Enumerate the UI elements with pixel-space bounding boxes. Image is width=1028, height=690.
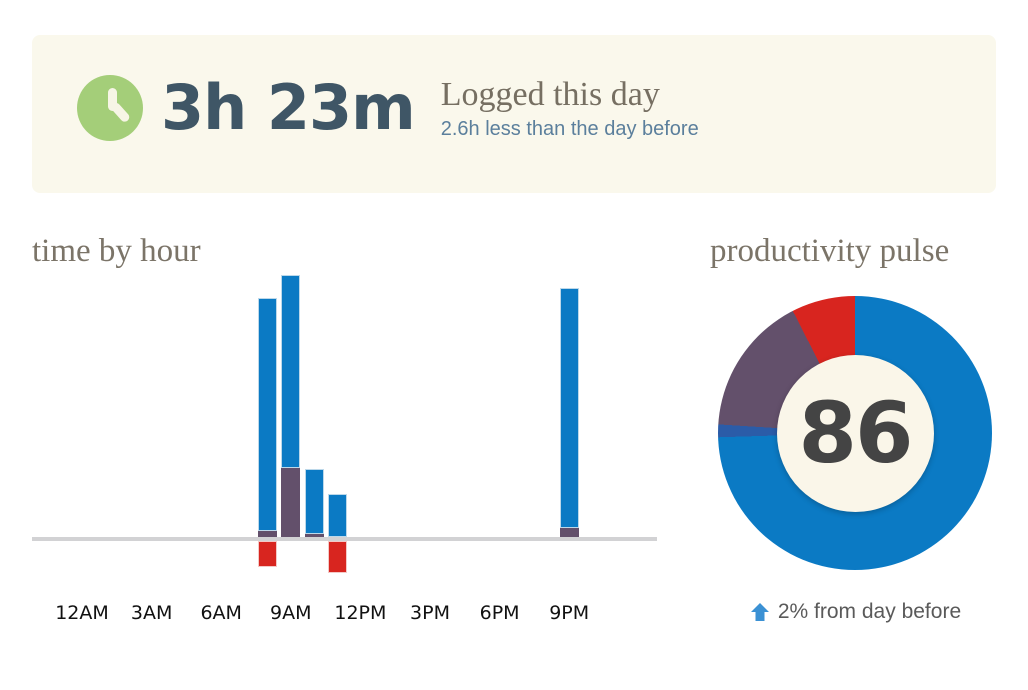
- bar-segment-very-productive: [258, 298, 277, 530]
- pulse-donut-hole: 86: [777, 355, 934, 512]
- productivity-pulse-heading: productivity pulse: [710, 233, 949, 270]
- bar-segment-neutral: [305, 534, 324, 537]
- pulse-delta-text: 2% from day before: [778, 600, 961, 624]
- chart-x-axis-labels: 12AM3AM6AM9AM12PM3PM6PM9PM: [32, 602, 657, 632]
- bar-segment-neutral: [281, 468, 300, 537]
- bar-column: [328, 275, 347, 580]
- x-axis-tick-label: 3PM: [410, 602, 450, 624]
- total-logged-time: 3h 23m: [161, 77, 415, 139]
- summary-subtitle: 2.6h less than the day before: [441, 118, 699, 141]
- x-axis-tick-label: 12AM: [55, 602, 109, 624]
- bar-column: [305, 275, 324, 580]
- bar-column: [258, 275, 277, 580]
- clock-icon: [77, 75, 143, 141]
- x-axis-tick-label: 6PM: [480, 602, 520, 624]
- time-by-hour-heading: time by hour: [32, 233, 201, 270]
- bar-segment-very-productive: [328, 494, 347, 537]
- pulse-delta-row: 2% from day before: [718, 600, 992, 624]
- bar-segment-very-productive: [281, 275, 300, 469]
- bar-segment-neutral: [258, 531, 277, 537]
- x-axis-tick-label: 9PM: [549, 602, 589, 624]
- bar-segment-very-productive: [305, 469, 324, 534]
- arrow-up-icon: [749, 601, 771, 623]
- bar-segment-distracting: [258, 541, 277, 567]
- time-by-hour-chart: [32, 275, 657, 580]
- clock-hand-minute: [110, 101, 131, 123]
- bar-segment-neutral: [560, 528, 579, 537]
- x-axis-tick-label: 3AM: [131, 602, 172, 624]
- bar-column: [560, 275, 579, 580]
- x-axis-tick-label: 12PM: [334, 602, 386, 624]
- bar-segment-very-productive: [560, 288, 579, 529]
- bar-segment-distracting: [328, 541, 347, 573]
- productivity-pulse-chart: 86: [718, 296, 992, 570]
- summary-content: 3h 23m Logged this day 2.6h less than th…: [77, 75, 699, 141]
- summary-title: Logged this day: [441, 75, 699, 114]
- summary-card: 3h 23m Logged this day 2.6h less than th…: [32, 35, 996, 193]
- x-axis-tick-label: 6AM: [200, 602, 241, 624]
- pulse-score-value: 86: [799, 391, 912, 475]
- x-axis-tick-label: 9AM: [270, 602, 311, 624]
- bar-column: [281, 275, 300, 580]
- summary-text-block: Logged this day 2.6h less than the day b…: [441, 75, 699, 140]
